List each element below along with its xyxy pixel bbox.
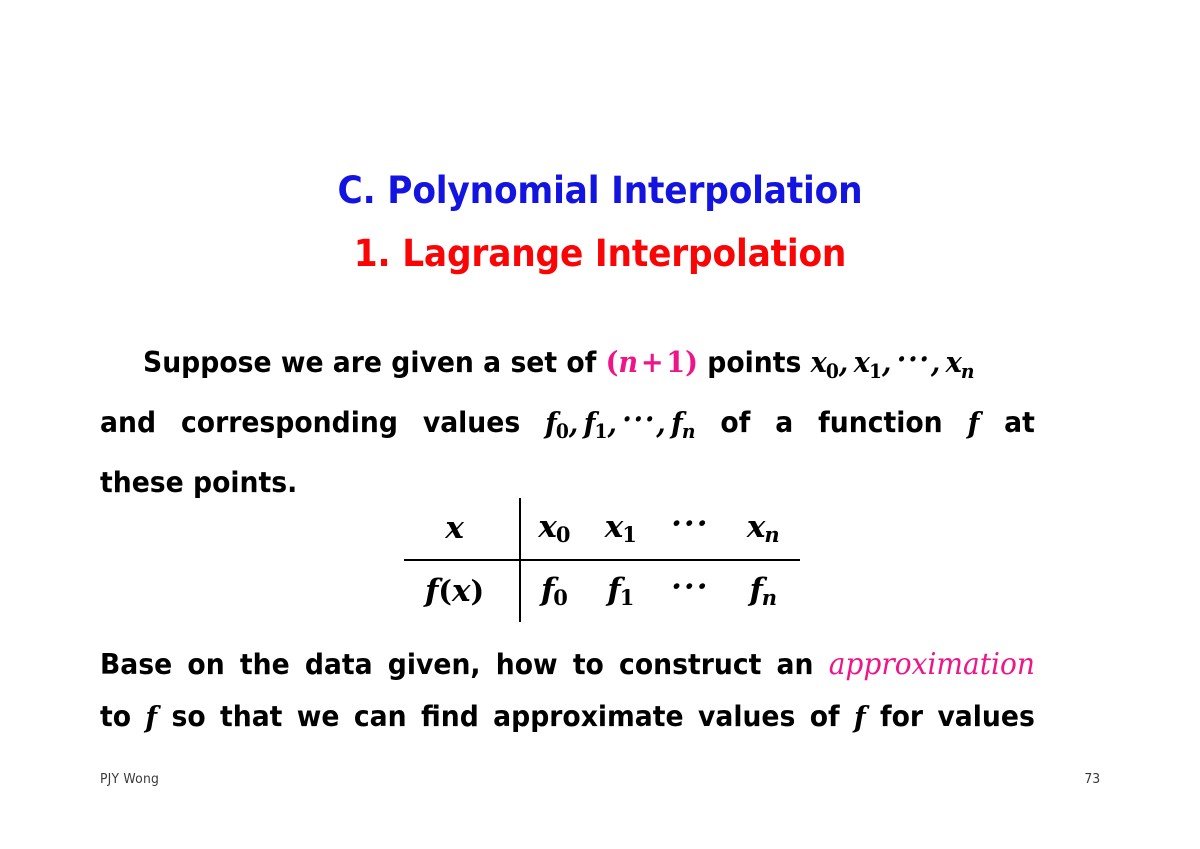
text-fragment: Suppose we are given a set of xyxy=(143,346,596,379)
math-f-nodes: f0, f1, ···, fn xyxy=(545,397,695,458)
page-title: C. Polynomial Interpolation xyxy=(42,172,1158,209)
highlight-n-plus-1: (n + 1) xyxy=(606,345,698,379)
word: corresponding xyxy=(181,397,398,458)
table-cell: x1 xyxy=(588,498,654,560)
footer-page-number: 73 xyxy=(1084,771,1100,787)
paragraph-line: Base on the data given, how to construct… xyxy=(100,639,1035,691)
word: that xyxy=(220,691,282,743)
cell-value: f1 xyxy=(607,575,634,609)
word: function xyxy=(818,397,942,458)
word: for xyxy=(880,691,923,743)
paragraph-line: to f so that we can find approximate val… xyxy=(100,691,1035,743)
word: construct xyxy=(619,639,761,691)
math-x-nodes: x0, x1, ···, xn xyxy=(811,345,975,379)
math-f: f xyxy=(145,691,157,743)
table-cell: x0 xyxy=(520,498,587,560)
table-cell: fn xyxy=(727,560,800,622)
word: of xyxy=(720,397,750,458)
table-cell: xn xyxy=(727,498,800,560)
interpolation-table: x x0 x1 ··· xn f(x) xyxy=(404,498,800,622)
table-cell-ellipsis: ··· xyxy=(654,498,726,560)
word: to xyxy=(573,639,604,691)
page-subtitle: 1. Lagrange Interpolation xyxy=(42,235,1158,272)
cell-value: fn xyxy=(749,575,777,609)
word: the xyxy=(240,639,290,691)
title-block: C. Polynomial Interpolation 1. Lagrange … xyxy=(0,172,1200,272)
data-table: x x0 x1 ··· xn f(x) xyxy=(404,498,800,622)
word: values xyxy=(423,397,520,458)
paragraph-question: Base on the data given, how to construct… xyxy=(100,639,1035,743)
word: can xyxy=(354,691,407,743)
table-cell: f1 xyxy=(588,560,654,622)
word: at xyxy=(1004,397,1035,458)
slide-page: C. Polynomial Interpolation 1. Lagrange … xyxy=(0,0,1200,849)
footer-author: PJY Wong xyxy=(100,771,159,787)
word: approximate xyxy=(493,691,683,743)
cell-value: xn xyxy=(747,512,780,546)
word: on xyxy=(187,639,224,691)
paragraph-line: Suppose we are given a set of (n + 1) po… xyxy=(100,336,1035,397)
table-row: f(x) f0 f1 ··· fn xyxy=(404,560,800,622)
cell-value: x0 xyxy=(538,512,570,546)
word: so xyxy=(171,691,205,743)
word: to xyxy=(100,691,131,743)
word: values xyxy=(937,691,1034,743)
math-f: f xyxy=(968,397,980,458)
cell-label: x xyxy=(445,513,463,544)
table-cell: f0 xyxy=(520,560,587,622)
table-cell-ellipsis: ··· xyxy=(654,560,726,622)
cell-value: ··· xyxy=(671,509,709,540)
table-row-label-fx: f(x) xyxy=(404,560,520,622)
cell-value: x1 xyxy=(605,512,637,546)
word: we xyxy=(297,691,340,743)
word: Base xyxy=(100,639,172,691)
cell-value: f0 xyxy=(541,575,568,609)
word: find xyxy=(421,691,479,743)
word: an xyxy=(777,639,814,691)
word: of xyxy=(810,691,840,743)
word: and xyxy=(100,397,156,458)
word: values xyxy=(698,691,795,743)
table-row-label-x: x xyxy=(404,498,520,560)
paragraph-line: and corresponding values f0, f1, ···, fn… xyxy=(100,397,1035,458)
math-f: f xyxy=(854,691,866,743)
word: how xyxy=(496,639,558,691)
word: given, xyxy=(388,639,481,691)
text-fragment: points xyxy=(707,346,801,379)
table-row: x x0 x1 ··· xn xyxy=(404,498,800,560)
word: data xyxy=(305,639,373,691)
cell-label: f(x) xyxy=(425,576,484,607)
word: a xyxy=(775,397,793,458)
highlight-approximation: approximation xyxy=(829,639,1035,691)
cell-value: ··· xyxy=(671,572,709,603)
paragraph-definition: Suppose we are given a set of (n + 1) po… xyxy=(100,336,1035,509)
